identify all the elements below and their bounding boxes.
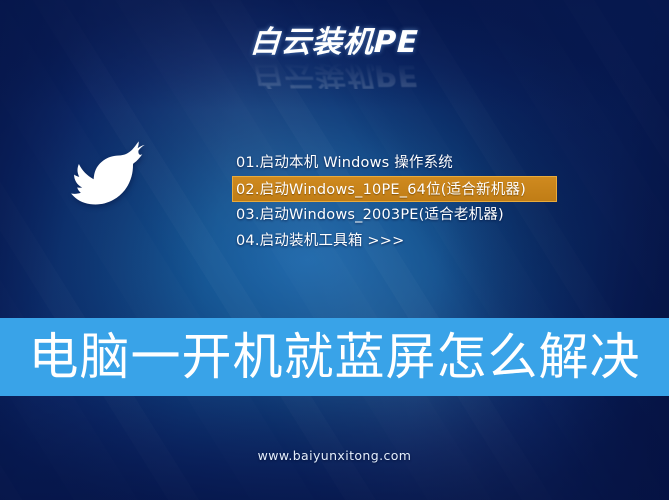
boot-menu-item-01[interactable]: 01.启动本机 Windows 操作系统 <box>232 150 572 176</box>
footer-url[interactable]: www.baiyunxitong.com <box>0 448 669 463</box>
headline-text: 电脑一开机就蓝屏怎么解决 <box>29 332 641 382</box>
bird-icon <box>68 138 164 210</box>
boot-menu-item-03[interactable]: 03.启动Windows_2003PE(适合老机器) <box>232 202 572 228</box>
headline-banner: 电脑一开机就蓝屏怎么解决 <box>0 318 669 396</box>
boot-menu-item-02[interactable]: 02.启动Windows_10PE_64位(适合新机器) <box>232 176 557 202</box>
brand-logo-reflection: 白云装机PE <box>0 59 669 89</box>
boot-screen: 白云装机PE 白云装机PE 01.启动本机 Windows 操作系统 02.启动… <box>0 0 669 500</box>
brand-logo-text: 白云装机PE <box>249 28 419 58</box>
boot-menu-item-04[interactable]: 04.启动装机工具箱 >>> <box>232 228 572 254</box>
brand-logo: 白云装机PE 白云装机PE <box>0 28 669 89</box>
boot-menu[interactable]: 01.启动本机 Windows 操作系统 02.启动Windows_10PE_6… <box>232 150 572 254</box>
